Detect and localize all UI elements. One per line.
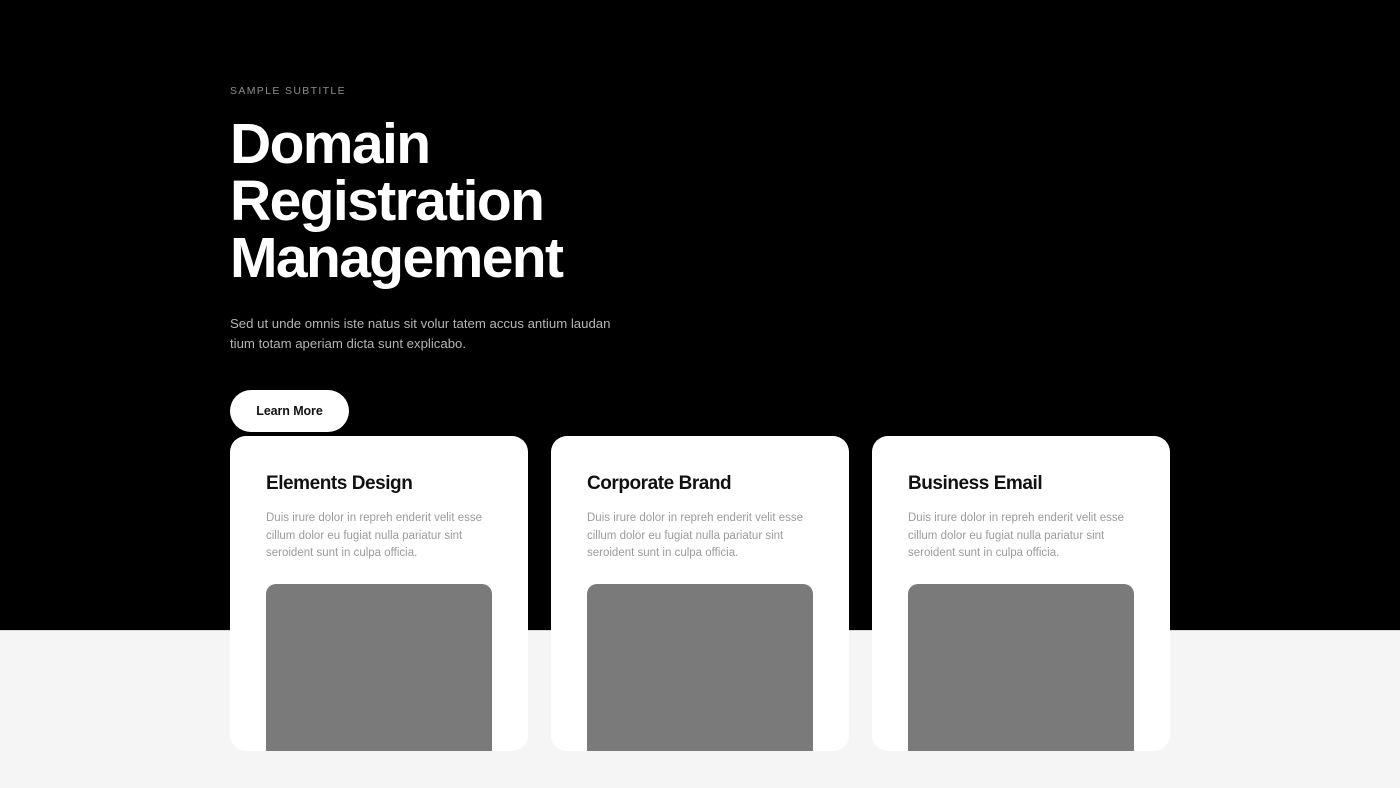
learn-more-button[interactable]: Learn More [230,390,349,432]
feature-card-image-placeholder [908,584,1134,752]
feature-card-title: Elements Design [266,472,492,496]
page-title: Domain Registration Management [230,116,750,287]
hero-description: Sed ut unde omnis iste natus sit volur t… [230,314,620,354]
feature-card-row: Elements Design Duis irure dolor in repr… [230,436,1170,751]
feature-card-image-placeholder [266,584,492,752]
feature-card-text: Duis irure dolor in repreh enderit velit… [266,510,492,563]
feature-card-text: Duis irure dolor in repreh enderit velit… [587,510,813,563]
feature-card-title: Corporate Brand [587,472,813,496]
feature-card-title: Business Email [908,472,1134,496]
feature-card[interactable]: Business Email Duis irure dolor in repre… [872,436,1170,751]
feature-card[interactable]: Elements Design Duis irure dolor in repr… [230,436,528,751]
feature-card[interactable]: Corporate Brand Duis irure dolor in repr… [551,436,849,751]
hero-section: SAMPLE SUBTITLE Domain Registration Mana… [230,84,870,432]
hero-eyebrow: SAMPLE SUBTITLE [230,84,870,98]
feature-card-text: Duis irure dolor in repreh enderit velit… [908,510,1134,563]
feature-card-image-placeholder [587,584,813,752]
